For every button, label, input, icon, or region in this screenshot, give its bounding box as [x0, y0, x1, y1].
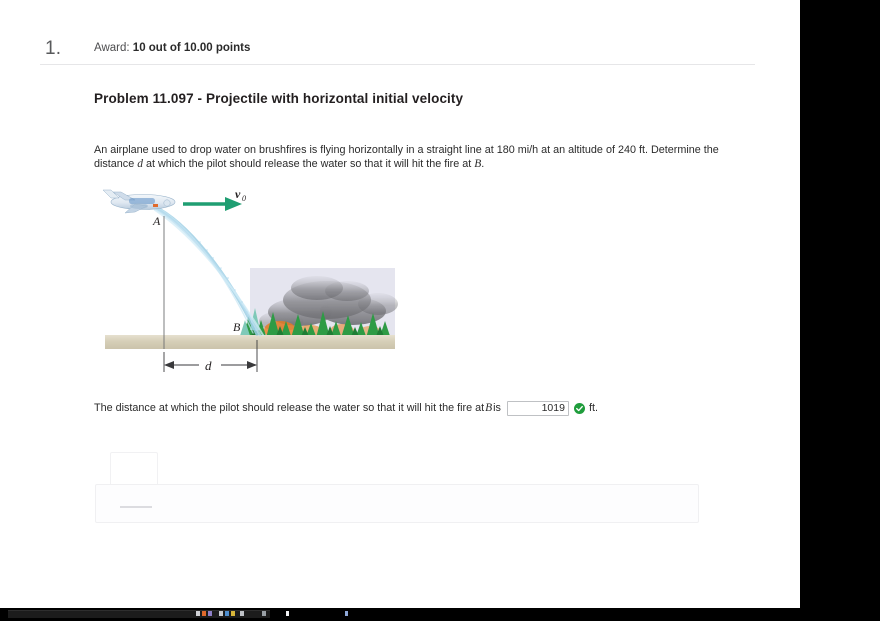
taskbar-icon-7[interactable]: [240, 611, 244, 616]
label-v0: v: [235, 187, 241, 201]
award-value: 10 out of 10.00 points: [133, 42, 251, 54]
velocity-arrow: [183, 197, 242, 211]
taskbar: [0, 608, 880, 621]
taskbar-icon-2[interactable]: [202, 611, 206, 616]
dimension-label-d-overlay: d: [205, 358, 212, 373]
label-v0-subscript: 0: [242, 194, 246, 203]
explanation-placeholder-line: [120, 506, 152, 508]
page-title: Problem 11.097 - Projectile with horizon…: [94, 91, 463, 106]
taskbar-icon-3[interactable]: [208, 611, 212, 616]
answer-row: The distance at which the pilot should r…: [94, 399, 598, 417]
problem-statement-text-2: at which the pilot should release the wa…: [143, 158, 474, 170]
answer-prompt-var-b: B: [484, 402, 493, 414]
award-line: Award: 10 out of 10.00 points: [94, 42, 250, 54]
taskbar-icon-6[interactable]: [231, 611, 235, 616]
ground-strip: [105, 335, 395, 349]
explanation-tab[interactable]: [110, 452, 158, 487]
assignment-page: 1. Award: 10 out of 10.00 points Problem…: [0, 0, 800, 608]
svg-text:d: d: [205, 358, 212, 373]
problem-statement: An airplane used to drop water on brushf…: [94, 143, 750, 171]
question-number: 1.: [45, 38, 61, 60]
airplane-icon: [103, 190, 175, 213]
answer-input[interactable]: [507, 401, 569, 416]
taskbar-icon-1[interactable]: [196, 611, 200, 616]
explanation-panel: [95, 484, 699, 523]
label-b: B: [233, 320, 241, 334]
header-divider: [40, 64, 755, 65]
check-circle-icon: [574, 403, 585, 414]
label-a: A: [152, 214, 161, 228]
answer-prompt-1: The distance at which the pilot should r…: [94, 402, 484, 414]
answer-unit: ft.: [589, 402, 598, 414]
taskbar-icon-10[interactable]: [345, 611, 348, 616]
answer-prompt-2: is: [493, 402, 501, 414]
taskbar-icon-4[interactable]: [219, 611, 223, 616]
water-stream: [152, 205, 263, 335]
letterbox-right: [800, 0, 880, 621]
award-label: Award:: [94, 42, 130, 54]
taskbar-icon-5[interactable]: [225, 611, 229, 616]
taskbar-icon-9[interactable]: [286, 611, 289, 616]
taskbar-icon-8[interactable]: [262, 611, 266, 616]
problem-statement-text-3: .: [481, 158, 484, 170]
problem-figure: A B d v 0 d: [95, 180, 415, 380]
screen-root: 1. Award: 10 out of 10.00 points Problem…: [0, 0, 880, 621]
